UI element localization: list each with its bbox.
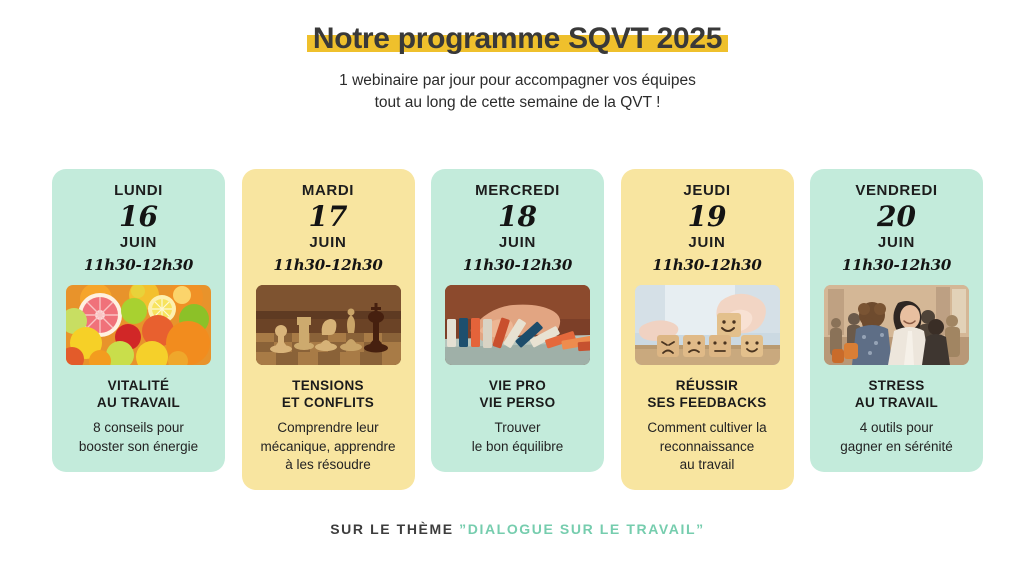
footer-lead-text: SUR LE THÈME [330,521,459,537]
card-topic-line-2: AU TRAVAIL [822,394,971,411]
subtitle-line-2: tout au long de cette semaine de la QVT … [0,92,1035,114]
card-month-label: JUIN [633,234,782,251]
webinar-card-mercredi[interactable]: MERCREDI 18 JUIN 11h30-12h30 [431,169,604,472]
card-desc-line-1: 8 conseils pour [64,419,213,437]
card-desc-line-2: reconnaissance [633,438,782,456]
chess-pieces-photo [256,285,401,365]
card-month-label: JUIN [443,234,592,251]
card-day-label: LUNDI [64,183,213,200]
card-desc-line-2: gagner en sérénité [822,438,971,456]
poster-header: Notre programme SQVT 2025 1 webinaire pa… [0,0,1035,115]
card-description: 4 outils pour gagner en sérénité [822,419,971,455]
webinar-card-lundi[interactable]: LUNDI 16 JUIN 11h30-12h30 [52,169,225,472]
card-desc-line-1: Comprendre leur [254,419,403,437]
card-desc-line-3: à les résoudre [254,456,403,474]
poster-footer: SUR LE THÈME ”DIALOGUE SUR LE TRAVAIL” [0,521,1035,537]
card-topic: TENSIONS ET CONFLITS [254,377,403,412]
card-time-label: 11h30-12h30 [64,256,213,274]
card-description: Comprendre leur mécanique, apprendre à l… [254,419,403,474]
card-month-label: JUIN [822,234,971,251]
card-desc-line-2: mécanique, apprendre [254,438,403,456]
card-topic-line-1: TENSIONS [254,377,403,394]
card-topic-line-1: STRESS [822,377,971,394]
card-desc-line-1: 4 outils pour [822,419,971,437]
card-description: Trouver le bon équilibre [443,419,592,455]
card-topic-line-2: SES FEEDBACKS [633,394,782,411]
card-topic-line-1: VIE PRO [443,377,592,394]
card-topic-line-2: ET CONFLITS [254,394,403,411]
card-day-label: JEUDI [633,183,782,200]
webinar-card-mardi[interactable]: MARDI 17 JUIN 11h30-12h30 [242,169,415,490]
card-time-label: 11h30-12h30 [254,256,403,274]
card-topic-line-1: VITALITÉ [64,377,213,394]
people-talking-photo [824,285,969,365]
page-subtitle: 1 webinaire par jour pour accompagner vo… [0,70,1035,115]
page-title: Notre programme SQVT 2025 [313,22,722,55]
card-date-number: 18 [443,201,592,233]
card-time-label: 11h30-12h30 [443,256,592,274]
card-date-number: 16 [64,201,213,233]
card-date-number: 17 [254,201,403,233]
webinar-card-list: LUNDI 16 JUIN 11h30-12h30 [52,169,983,490]
card-date-number: 20 [822,201,971,233]
card-topic-line-1: RÉUSSIR [633,377,782,394]
card-topic: RÉUSSIR SES FEEDBACKS [633,377,782,412]
card-desc-line-3: au travail [633,456,782,474]
card-month-label: JUIN [254,234,403,251]
card-day-label: MARDI [254,183,403,200]
falling-dominoes-photo [445,285,590,365]
card-time-label: 11h30-12h30 [633,256,782,274]
card-description: Comment cultiver la reconnaissance au tr… [633,419,782,474]
title-container: Notre programme SQVT 2025 [313,24,722,54]
citrus-fruits-photo [66,285,211,365]
card-date-number: 19 [633,201,782,233]
card-topic: VIE PRO VIE PERSO [443,377,592,412]
card-topic: STRESS AU TRAVAIL [822,377,971,412]
card-topic-line-2: VIE PERSO [443,394,592,411]
poster-canvas: Notre programme SQVT 2025 1 webinaire pa… [0,0,1035,582]
card-topic-line-2: AU TRAVAIL [64,394,213,411]
card-day-label: VENDREDI [822,183,971,200]
card-desc-line-1: Trouver [443,419,592,437]
card-month-label: JUIN [64,234,213,251]
webinar-card-vendredi[interactable]: VENDREDI 20 JUIN 11h30-12h30 [810,169,983,472]
footer-theme-text: ”DIALOGUE SUR LE TRAVAIL” [459,521,705,537]
card-day-label: MERCREDI [443,183,592,200]
card-desc-line-2: booster son énergie [64,438,213,456]
subtitle-line-1: 1 webinaire par jour pour accompagner vo… [0,70,1035,92]
card-description: 8 conseils pour booster son énergie [64,419,213,455]
webinar-card-jeudi[interactable]: JEUDI 19 JUIN 11h30-12h30 [621,169,794,490]
emoji-wooden-cubes-photo [635,285,780,365]
card-time-label: 11h30-12h30 [822,256,971,274]
card-desc-line-2: le bon équilibre [443,438,592,456]
card-topic: VITALITÉ AU TRAVAIL [64,377,213,412]
card-desc-line-1: Comment cultiver la [633,419,782,437]
